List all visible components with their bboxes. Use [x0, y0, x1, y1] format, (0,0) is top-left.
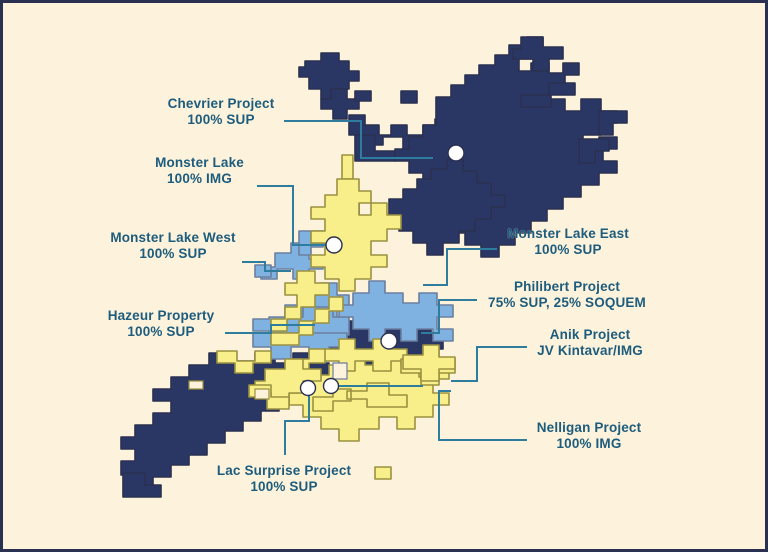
label-monster-lake-east-name: Monster Lake East [497, 226, 639, 242]
label-monster-lake-west[interactable]: Monster Lake West 100% SUP [101, 230, 245, 262]
label-philibert-name: Philibert Project [479, 279, 655, 295]
label-monster-lake-east[interactable]: Monster Lake East 100% SUP [497, 226, 639, 258]
label-hazeur-ownership: 100% SUP [95, 324, 227, 340]
chevrier-claim-nw-3[interactable] [355, 91, 371, 101]
label-lac-surprise[interactable]: Lac Surprise Project 100% SUP [211, 463, 357, 495]
label-chevrier-name: Chevrier Project [158, 96, 284, 112]
label-hazeur-name: Hazeur Property [95, 308, 227, 324]
label-philibert-ownership: 75% SUP, 25% SOQUEM [479, 295, 655, 311]
label-anik[interactable]: Anik Project JV Kintavar/IMG [527, 327, 653, 359]
interior-lake-1 [189, 381, 203, 389]
label-monster-lake-name: Monster Lake [143, 155, 256, 171]
chevrier-claim-ne-3[interactable] [549, 83, 575, 95]
monster-lake-claim-spike[interactable] [342, 155, 353, 179]
leader-line-nelligan [439, 391, 527, 440]
label-anik-ownership: JV Kintavar/IMG [527, 343, 653, 359]
philibert-deposit-marker[interactable] [381, 333, 397, 349]
label-nelligan-ownership: 100% IMG [527, 436, 651, 452]
nelligan-deposit-marker[interactable] [324, 379, 339, 394]
chevrier-claim-nw-1[interactable] [299, 53, 359, 99]
label-nelligan[interactable]: Nelligan Project 100% IMG [527, 420, 651, 452]
label-monster-lake-east-ownership: 100% SUP [497, 242, 639, 258]
map-canvas [3, 3, 768, 552]
chevrier-deposit-marker[interactable] [448, 145, 464, 161]
label-monster-lake-west-ownership: 100% SUP [101, 246, 245, 262]
lac-surprise-deposit-marker[interactable] [301, 381, 316, 396]
label-monster-lake-ownership: 100% IMG [143, 171, 256, 187]
interior-lake-2 [333, 363, 347, 379]
label-hazeur[interactable]: Hazeur Property 100% SUP [95, 308, 227, 340]
monster-lake-body[interactable] [311, 179, 401, 291]
label-chevrier[interactable]: Chevrier Project 100% SUP [158, 96, 284, 128]
chevrier-claim-e-lobe[interactable] [579, 139, 609, 163]
label-monster-lake-west-name: Monster Lake West [101, 230, 245, 246]
monster-lake-deposit-marker[interactable] [326, 237, 342, 253]
interior-lake-3 [255, 389, 269, 399]
project-portfolio-map: Chevrier Project 100% SUP Monster Lake 1… [0, 0, 768, 552]
chevrier-claim-e-edge[interactable] [599, 111, 627, 135]
label-nelligan-name: Nelligan Project [527, 420, 651, 436]
label-anik-name: Anik Project [527, 327, 653, 343]
chevrier-claim-small-1[interactable] [401, 91, 417, 103]
leader-line-anik [451, 347, 527, 381]
label-lac-surprise-name: Lac Surprise Project [211, 463, 357, 479]
label-philibert[interactable]: Philibert Project 75% SUP, 25% SOQUEM [479, 279, 655, 311]
label-monster-lake[interactable]: Monster Lake 100% IMG [143, 155, 256, 187]
detached-claim-square[interactable] [375, 467, 391, 479]
chevrier-claim-ne-2[interactable] [521, 95, 551, 107]
chevrier-claim-ne-1[interactable] [513, 37, 563, 71]
label-chevrier-ownership: 100% SUP [158, 112, 284, 128]
label-lac-surprise-ownership: 100% SUP [211, 479, 357, 495]
